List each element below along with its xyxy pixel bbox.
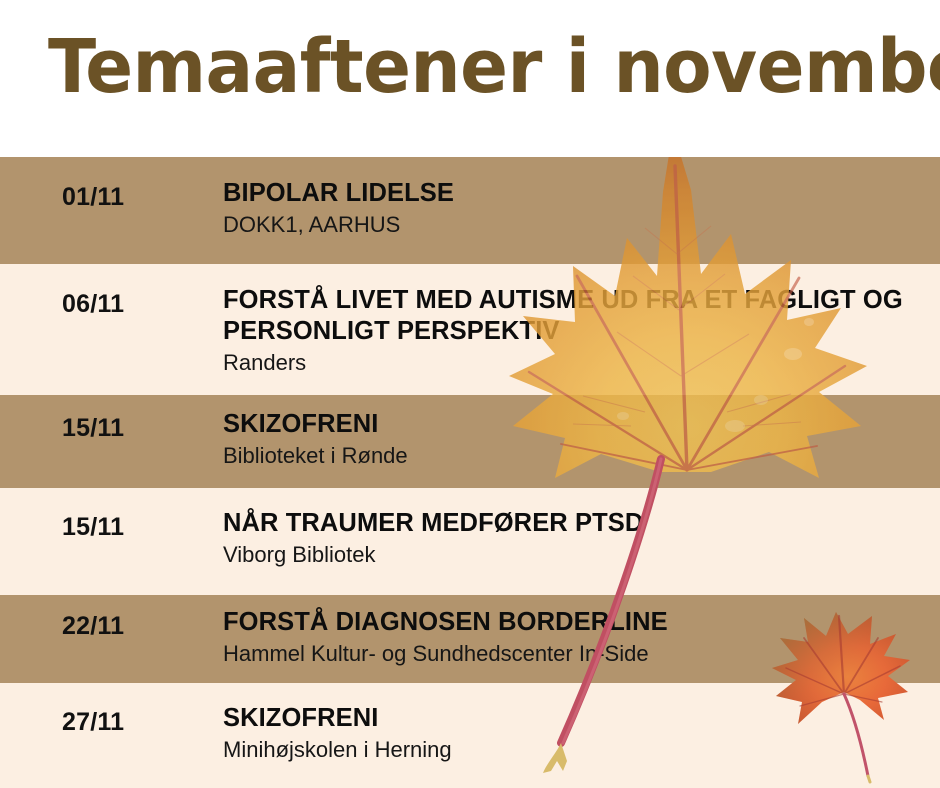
page-title: Temaaftener i november	[48, 27, 940, 107]
event-venue: Randers	[223, 349, 903, 376]
event-detail: NÅR TRAUMER MEDFØRER PTSD Viborg Bibliot…	[223, 508, 903, 568]
event-detail: FORSTÅ DIAGNOSEN BORDERLINE Hammel Kultu…	[223, 607, 903, 667]
event-row[interactable]: 01/11 BIPOLAR LIDELSE DOKK1, AARHUS	[0, 157, 940, 264]
event-date: 01/11	[62, 183, 212, 212]
event-venue: Biblioteket i Rønde	[223, 442, 903, 469]
event-venue: DOKK1, AARHUS	[223, 211, 903, 238]
event-row[interactable]: 22/11 FORSTÅ DIAGNOSEN BORDERLINE Hammel…	[0, 595, 940, 683]
poster-canvas: Temaaftener i november 01/11 BIPOLAR LID…	[0, 0, 940, 788]
event-venue: Viborg Bibliotek	[223, 541, 903, 568]
event-date: 15/11	[62, 513, 212, 542]
event-detail: SKIZOFRENI Minihøjskolen i Herning	[223, 703, 903, 763]
event-detail: SKIZOFRENI Biblioteket i Rønde	[223, 409, 903, 469]
event-title: SKIZOFRENI	[223, 703, 903, 734]
event-date: 22/11	[62, 612, 212, 641]
event-row[interactable]: 15/11 NÅR TRAUMER MEDFØRER PTSD Viborg B…	[0, 488, 940, 595]
event-date: 15/11	[62, 414, 212, 443]
event-title: FORSTÅ DIAGNOSEN BORDERLINE	[223, 607, 903, 638]
event-title: FORSTÅ LIVET MED AUTISME UD FRA ET FAGLI…	[223, 285, 903, 347]
event-list: 01/11 BIPOLAR LIDELSE DOKK1, AARHUS 06/1…	[0, 157, 940, 788]
event-row[interactable]: 15/11 SKIZOFRENI Biblioteket i Rønde	[0, 395, 940, 488]
event-venue: Minihøjskolen i Herning	[223, 736, 903, 763]
event-date: 06/11	[62, 290, 212, 319]
title-band: Temaaftener i november	[0, 0, 940, 157]
event-detail: FORSTÅ LIVET MED AUTISME UD FRA ET FAGLI…	[223, 285, 903, 376]
event-date: 27/11	[62, 708, 212, 737]
event-detail: BIPOLAR LIDELSE DOKK1, AARHUS	[223, 178, 903, 238]
event-title: SKIZOFRENI	[223, 409, 903, 440]
event-venue: Hammel Kultur- og Sundhedscenter In-Side	[223, 640, 903, 667]
event-title: BIPOLAR LIDELSE	[223, 178, 903, 209]
event-row[interactable]: 27/11 SKIZOFRENI Minihøjskolen i Herning	[0, 683, 940, 788]
event-row[interactable]: 06/11 FORSTÅ LIVET MED AUTISME UD FRA ET…	[0, 264, 940, 395]
event-title: NÅR TRAUMER MEDFØRER PTSD	[223, 508, 903, 539]
